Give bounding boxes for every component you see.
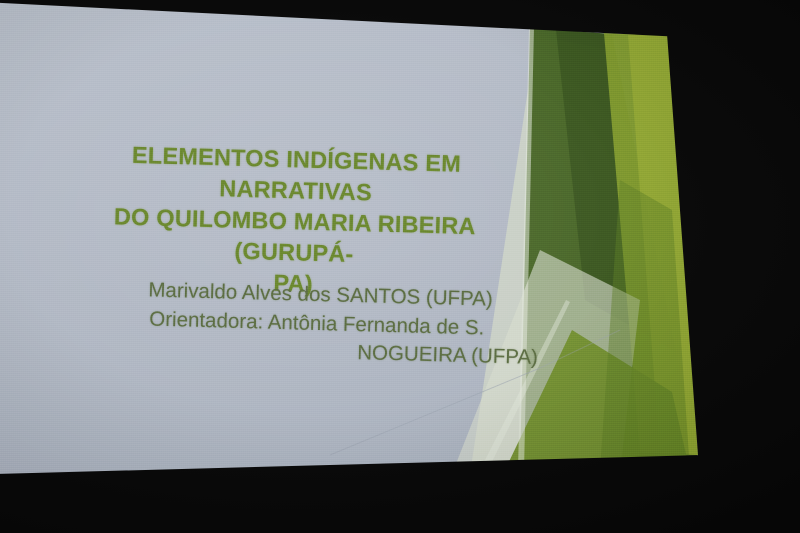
screenshot-stage: ELEMENTOS INDÍGENAS EM NARRATIVAS DO QUI… [0,0,800,533]
